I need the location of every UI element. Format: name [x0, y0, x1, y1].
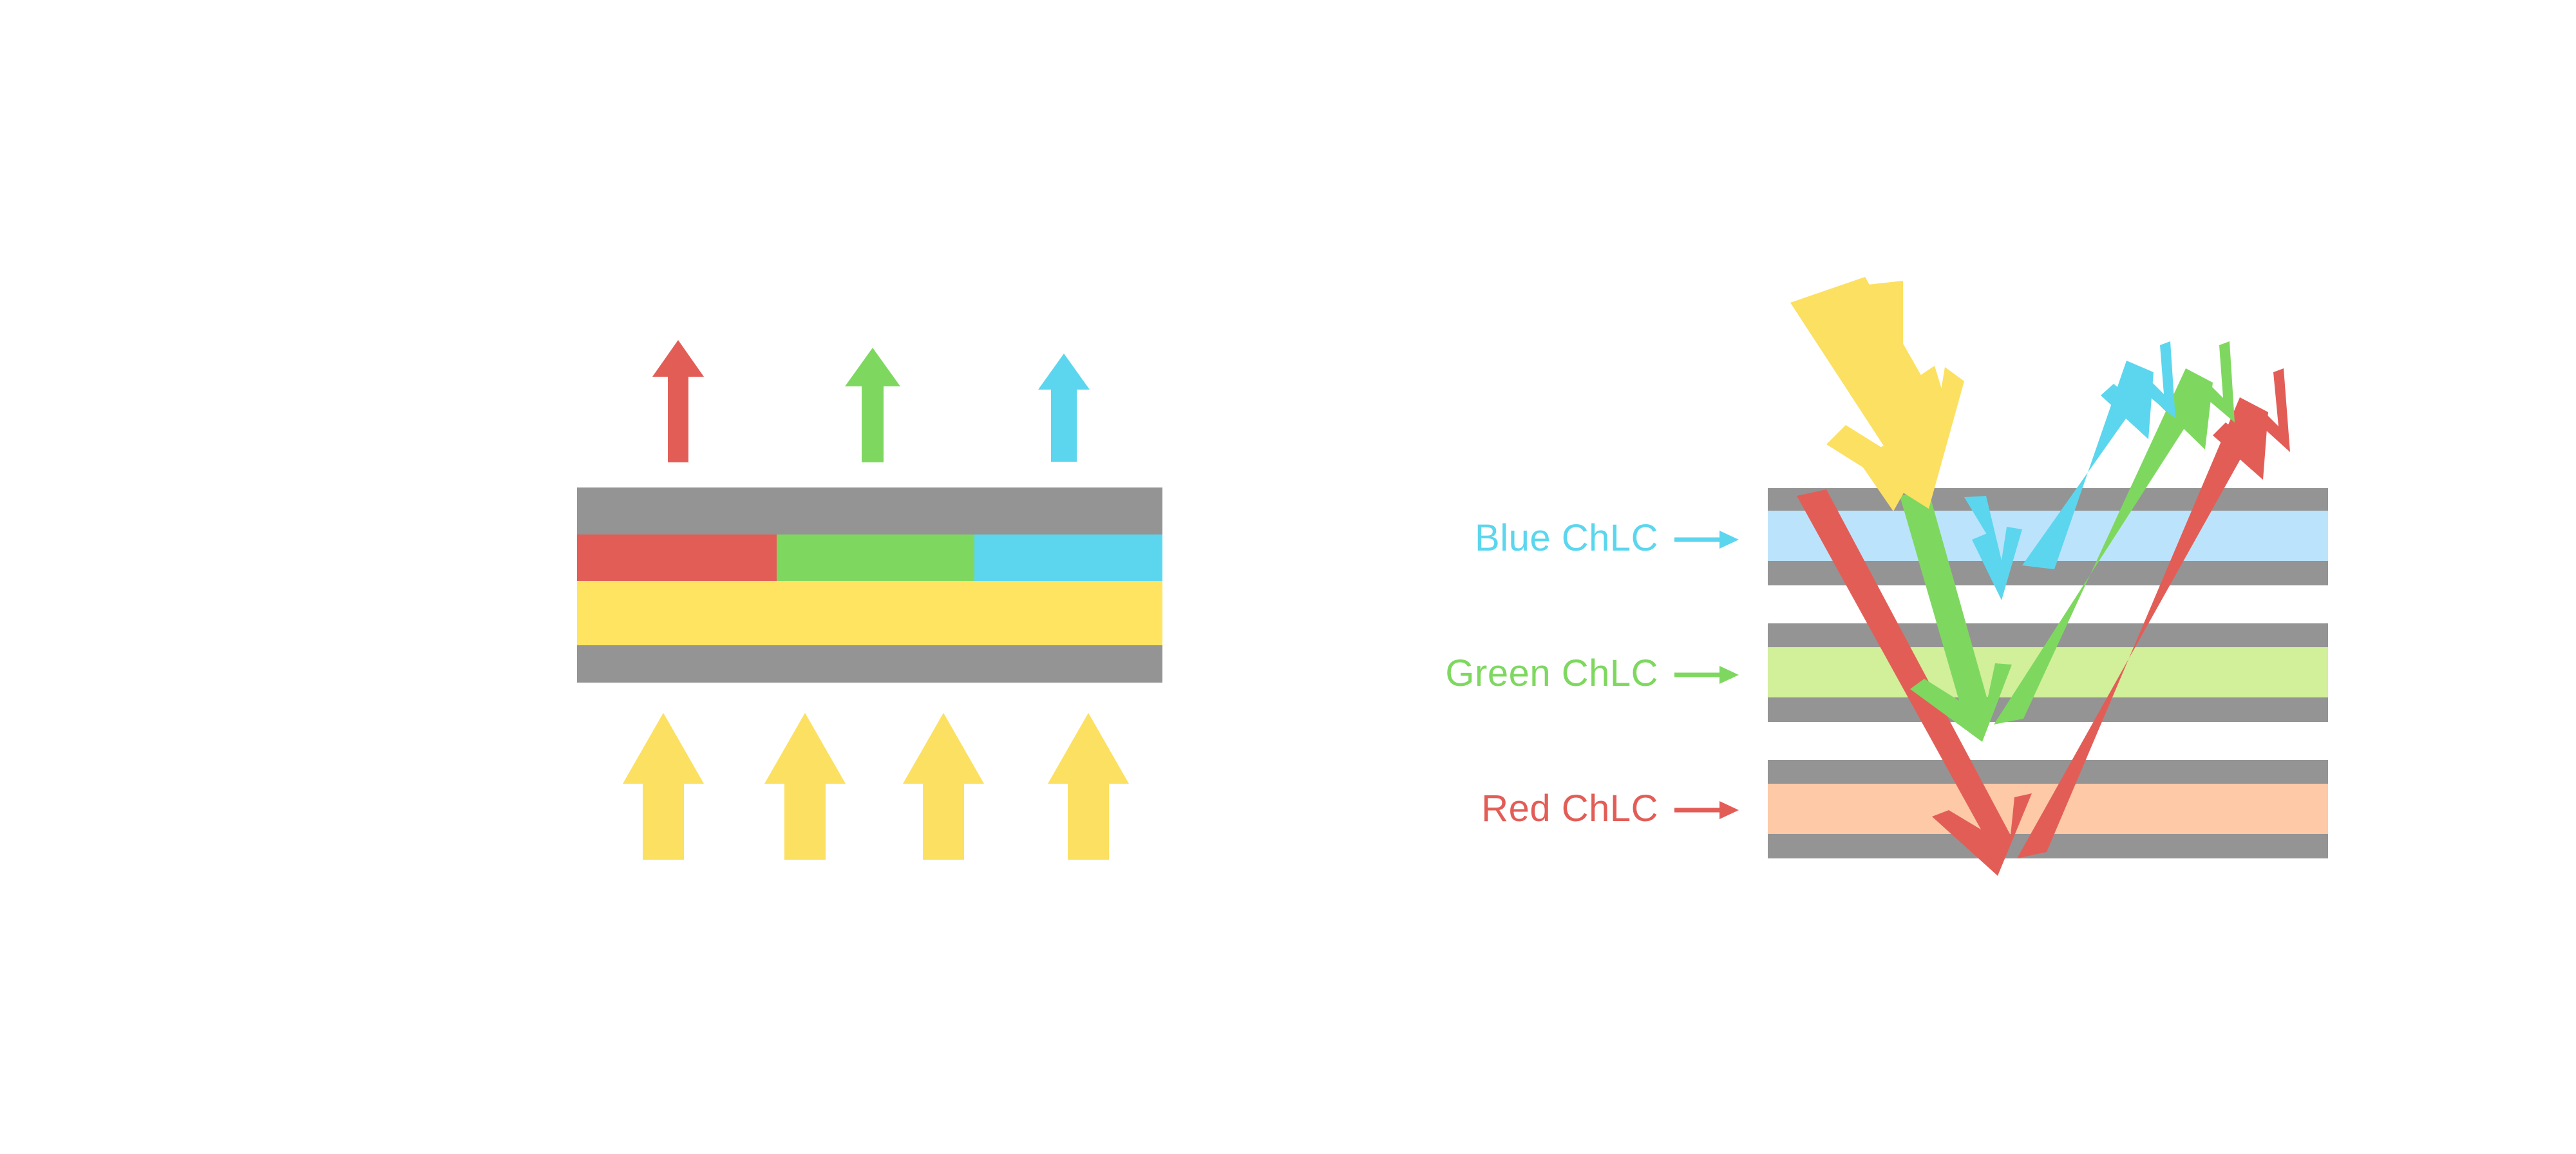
bottom-gray-electrode: [577, 645, 1162, 683]
yellow-backlight-layer: [577, 581, 1162, 645]
left-stack: [577, 487, 1162, 683]
green-cell-bottom-electrode: [1768, 697, 2328, 722]
left-backlight-arrows: [623, 713, 1129, 860]
chlc-labels: Blue ChLC Green ChLC Red ChLC: [1445, 517, 1739, 829]
backlight-arrow-4: [1048, 713, 1129, 860]
green-emission-arrow: [845, 348, 900, 462]
backlight-arrow-2: [764, 713, 846, 860]
red-emission-arrow: [652, 340, 704, 462]
blue-chlc-label-arrow-icon: [1674, 531, 1739, 549]
red-subpixel: [577, 534, 777, 581]
backlight-arrow-3: [903, 713, 984, 860]
red-cell-top-electrode: [1768, 760, 2328, 784]
red-chlc-label-text: Red ChLC: [1481, 788, 1658, 829]
left-emitted-arrows: [652, 340, 1090, 462]
top-gray-electrode: [577, 487, 1162, 534]
diagram-canvas: Blue ChLC Green ChLC Red ChLC: [0, 0, 2576, 1154]
blue-subpixel: [974, 534, 1162, 581]
green-subpixel: [777, 534, 974, 581]
green-chlc-label-text: Green ChLC: [1445, 652, 1658, 694]
blue-emission-arrow: [1038, 354, 1090, 462]
blue-cell-top-electrode: [1768, 488, 2328, 511]
green-chlc-label-arrow-icon: [1674, 666, 1739, 684]
backlight-arrow-1: [623, 713, 704, 860]
right-panel: Blue ChLC Green ChLC Red ChLC: [1445, 277, 2328, 876]
left-panel: [577, 340, 1162, 860]
red-chlc-label-arrow-icon: [1674, 801, 1739, 819]
figure-root: Blue ChLC Green ChLC Red ChLC: [0, 0, 2576, 1154]
blue-chlc-label-text: Blue ChLC: [1475, 517, 1658, 559]
green-chlc-cell: [1768, 623, 2328, 722]
